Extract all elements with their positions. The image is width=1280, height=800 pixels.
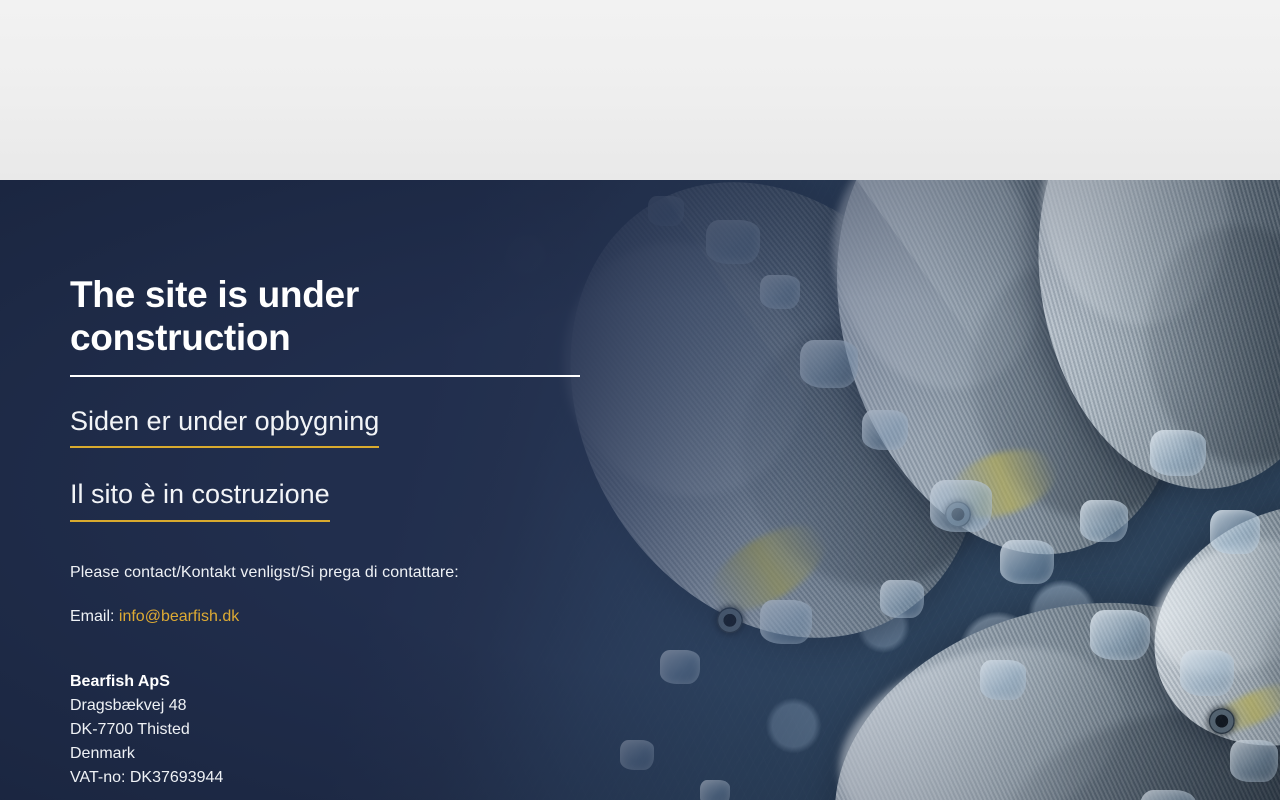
email-line: Email: info@bearfish.dk <box>70 608 690 626</box>
hero-content: The site is under construction Siden er … <box>70 180 690 790</box>
page-title-it: Il sito è in costruzione <box>70 478 330 521</box>
hero-section: The site is under construction Siden er … <box>0 180 1280 800</box>
address-postal-city: DK-7700 Thisted <box>70 718 690 742</box>
email-link[interactable]: info@bearfish.dk <box>119 608 239 625</box>
page-title-en: The site is under construction <box>70 274 580 377</box>
address-country: Denmark <box>70 742 690 766</box>
address-street: Dragsbækvej 48 <box>70 694 690 718</box>
page-title-da: Siden er under opbygning <box>70 405 379 448</box>
company-address-block: Bearfish ApS Dragsbækvej 48 DK-7700 This… <box>70 670 690 790</box>
company-name: Bearfish ApS <box>70 670 690 694</box>
vat-number: VAT-no: DK37693944 <box>70 766 690 790</box>
email-label: Email: <box>70 608 114 625</box>
contact-prompt-text: Please contact/Kontakt venligst/Si prega… <box>70 564 690 582</box>
top-blank-band <box>0 0 1280 180</box>
